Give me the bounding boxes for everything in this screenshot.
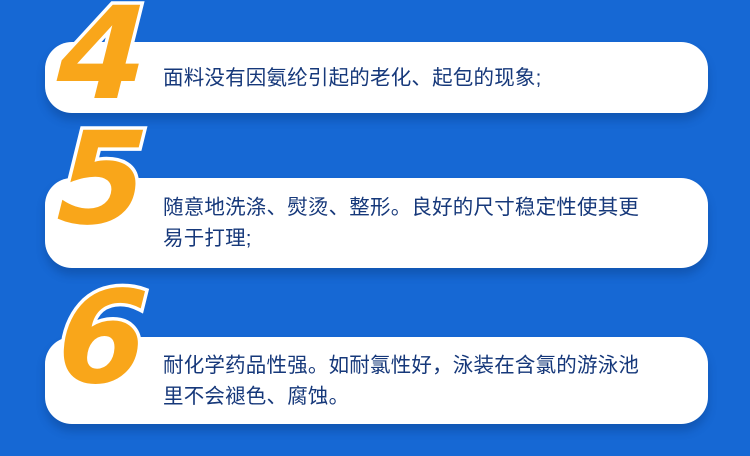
feature-number-6: 6 <box>55 275 151 403</box>
feature-text-4: 面料没有因氨纶引起的老化、起包的现象; <box>163 62 682 93</box>
feature-text-5: 随意地洗涤、熨烫、整形。良好的尺寸稳定性使其更 易于打理; <box>163 192 682 254</box>
feature-text-6: 耐化学药品性强。如耐氯性好，泳装在含氯的游泳池 里不会褪色、腐蚀。 <box>163 350 682 412</box>
feature-item-5: 随意地洗涤、熨烫、整形。良好的尺寸稳定性使其更 易于打理; 5 <box>45 178 708 268</box>
feature-number-5: 5 <box>55 116 151 244</box>
feature-list-poster: 面料没有因氨纶引起的老化、起包的现象; 4 随意地洗涤、熨烫、整形。良好的尺寸稳… <box>0 0 750 456</box>
feature-number-4: 4 <box>55 0 151 119</box>
feature-item-4: 面料没有因氨纶引起的老化、起包的现象; 4 <box>45 42 708 113</box>
feature-item-6: 耐化学药品性强。如耐氯性好，泳装在含氯的游泳池 里不会褪色、腐蚀。 6 <box>45 337 708 424</box>
